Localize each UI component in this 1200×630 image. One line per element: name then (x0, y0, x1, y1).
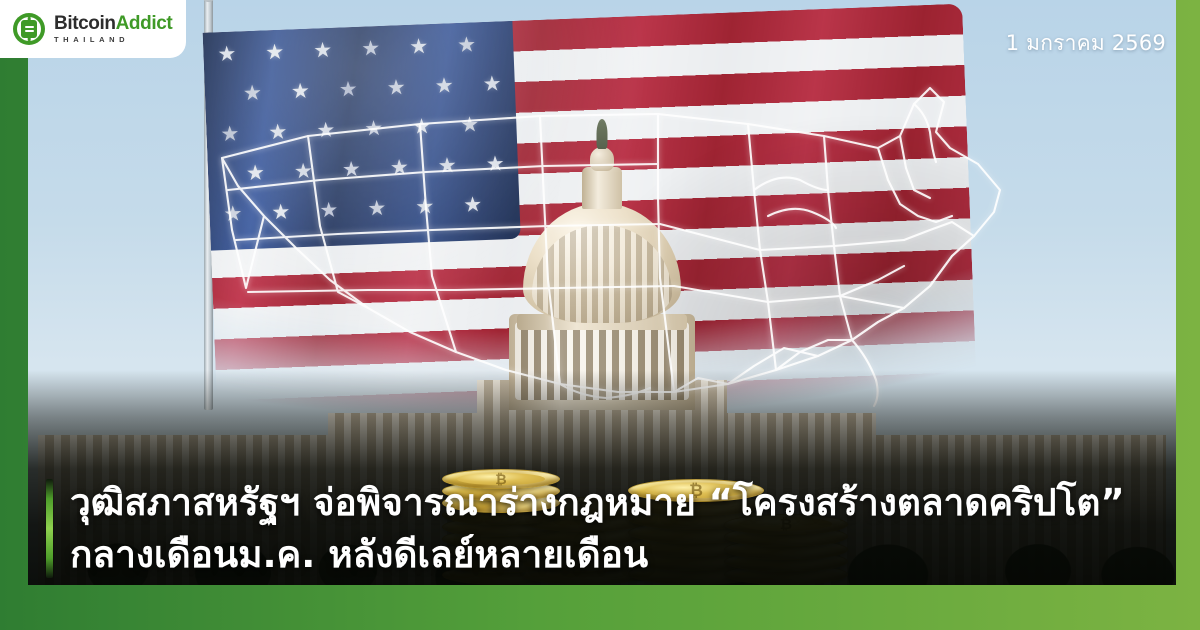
headline-accent-bar (46, 479, 53, 578)
site-logo-badge[interactable]: BitcoinAddict THAILAND (0, 0, 186, 58)
article-thumbnail-card: ★★★★★★★★★★★★★★★★★★★★★★★★★★★★★★ (0, 0, 1200, 630)
headline-line-2: กลางเดือนม.ค. หลังดีเลย์หลายเดือน (70, 531, 1125, 578)
headline-block: วุฒิสภาสหรัฐฯ จ่อพิจารณาร่างกฎหมาย “โครง… (46, 479, 1125, 578)
publish-date: 1 มกราคม 2569 (1006, 27, 1166, 60)
logo-subtitle: THAILAND (54, 36, 172, 44)
logo-wordmark: BitcoinAddict THAILAND (54, 14, 172, 44)
bitcoin-b-glyph-icon (21, 20, 37, 38)
logo-name-part1: Bitcoin (54, 13, 116, 34)
logo-name: BitcoinAddict (54, 14, 172, 33)
logo-name-part2: Addict (116, 13, 173, 34)
headline-text: วุฒิสภาสหรัฐฯ จ่อพิจารณาร่างกฎหมาย “โครง… (70, 479, 1125, 578)
bitcoin-coin-logo-icon (13, 13, 45, 45)
headline-line-1: วุฒิสภาสหรัฐฯ จ่อพิจารณาร่างกฎหมาย “โครง… (70, 479, 1125, 526)
